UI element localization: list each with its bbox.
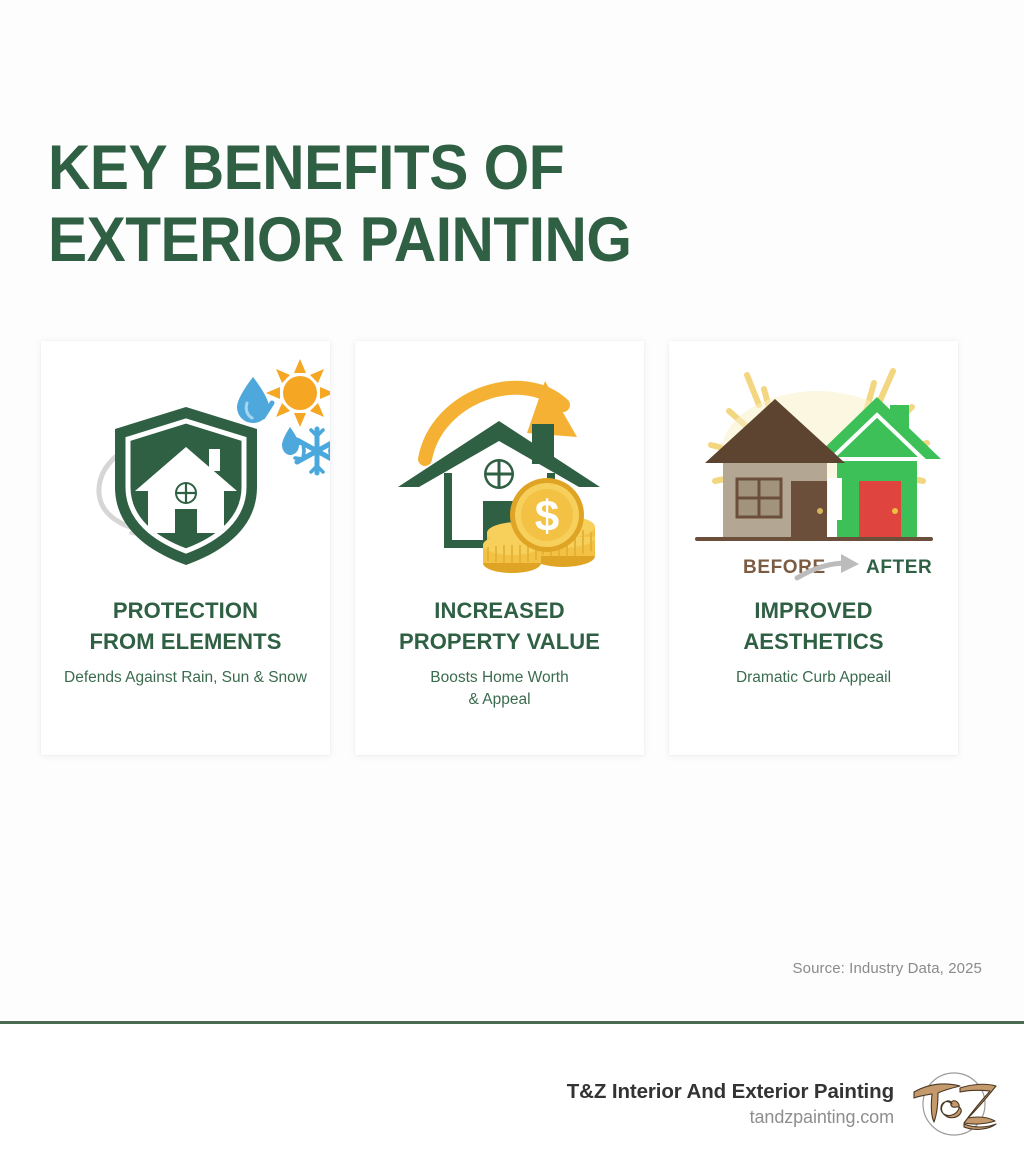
- card-title-line-2: PROPERTY VALUE: [399, 629, 600, 654]
- card-title: IMPROVED AESTHETICS: [669, 595, 958, 657]
- source-note: Source: Industry Data, 2025: [793, 960, 982, 977]
- card-subtitle: Boosts Home Worth & Appeal: [355, 667, 644, 711]
- card-title: INCREASED PROPERTY VALUE: [355, 595, 644, 657]
- shield-house-weather-icon: [41, 341, 330, 593]
- house-coins-arrow-icon: $: [355, 341, 644, 593]
- card-title-line-1: IMPROVED: [754, 598, 872, 623]
- footer-text-block: T&Z Interior And Exterior Painting tandz…: [567, 1080, 894, 1128]
- card-title-line-2: FROM ELEMENTS: [90, 629, 282, 654]
- footer-bar: T&Z Interior And Exterior Painting tandz…: [0, 1024, 1024, 1154]
- benefit-card-protection: PROTECTION FROM ELEMENTS Defends Against…: [41, 341, 330, 755]
- card-subtitle-line-1: Dramatic Curb Appeail: [736, 669, 891, 686]
- card-subtitle-line-2: & Appeal: [468, 691, 530, 708]
- card-title-line-1: PROTECTION: [113, 598, 258, 623]
- card-title: PROTECTION FROM ELEMENTS: [41, 595, 330, 657]
- footer-content: T&Z Interior And Exterior Painting tandz…: [567, 1064, 1000, 1144]
- footer-website[interactable]: tandzpainting.com: [567, 1107, 894, 1128]
- svg-text:AFTER: AFTER: [866, 557, 932, 578]
- benefit-card-property-value: $ INCREASED PROPERTY VALUE Boosts Home W…: [355, 341, 644, 755]
- card-subtitle: Dramatic Curb Appeail: [669, 667, 958, 689]
- benefit-card-aesthetics: BEFORE AFTER IMPROVED AESTHETICS Dramati…: [669, 341, 958, 755]
- footer-company-name: T&Z Interior And Exterior Painting: [567, 1080, 894, 1104]
- card-title-line-1: INCREASED: [434, 598, 564, 623]
- page-title: KEY BENEFITS OF EXTERIOR PAINTING: [48, 132, 808, 276]
- card-subtitle-line-1: Defends Against Rain, Sun & Snow: [64, 669, 307, 686]
- benefit-cards-row: PROTECTION FROM ELEMENTS Defends Against…: [41, 341, 976, 755]
- card-subtitle-line-1: Boosts Home Worth: [430, 669, 568, 686]
- svg-text:$: $: [535, 492, 559, 541]
- card-title-line-2: AESTHETICS: [743, 629, 883, 654]
- before-after-houses-icon: BEFORE AFTER: [669, 341, 958, 593]
- page-title-line-2: EXTERIOR PAINTING: [48, 204, 755, 276]
- page-title-line-1: KEY BENEFITS OF: [48, 132, 755, 204]
- infographic-page: KEY BENEFITS OF EXTERIOR PAINTING: [0, 0, 1024, 1154]
- tz-monogram-logo: [908, 1064, 1000, 1144]
- card-subtitle: Defends Against Rain, Sun & Snow: [41, 667, 330, 689]
